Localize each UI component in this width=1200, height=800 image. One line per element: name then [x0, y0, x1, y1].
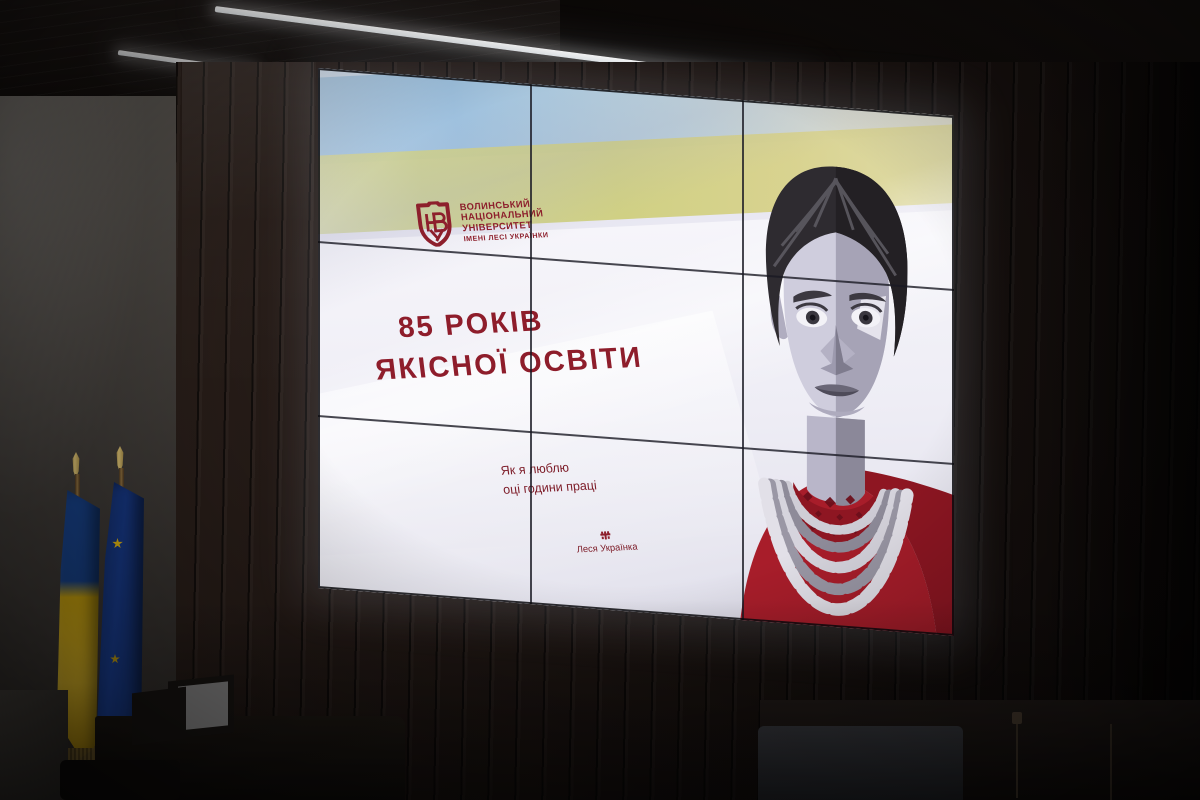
wall-right-shadow — [1040, 62, 1200, 800]
video-wall[interactable]: ВОЛИНСЬКИЙ НАЦІОНАЛЬНИЙ УНІВЕРСИТЕТ ІМЕН… — [318, 68, 954, 636]
video-wall-bezel — [318, 68, 954, 636]
wood-column-highlight — [182, 62, 314, 622]
video-wall-screen: ВОЛИНСЬКИЙ НАЦІОНАЛЬНИЙ УНІВЕРСИТЕТ ІМЕН… — [318, 68, 954, 636]
microphone-head — [1012, 712, 1022, 724]
laptop-lid-left — [132, 687, 186, 746]
chair — [60, 760, 180, 800]
microphone-stand-1 — [1016, 718, 1018, 798]
podium — [0, 690, 68, 800]
speaker-cabinet — [758, 726, 963, 800]
scene-root: ВОЛИНСЬКИЙ НАЦІОНАЛЬНИЙ УНІВЕРСИТЕТ ІМЕН… — [0, 0, 1200, 800]
microphone-stand-2 — [1110, 724, 1112, 800]
